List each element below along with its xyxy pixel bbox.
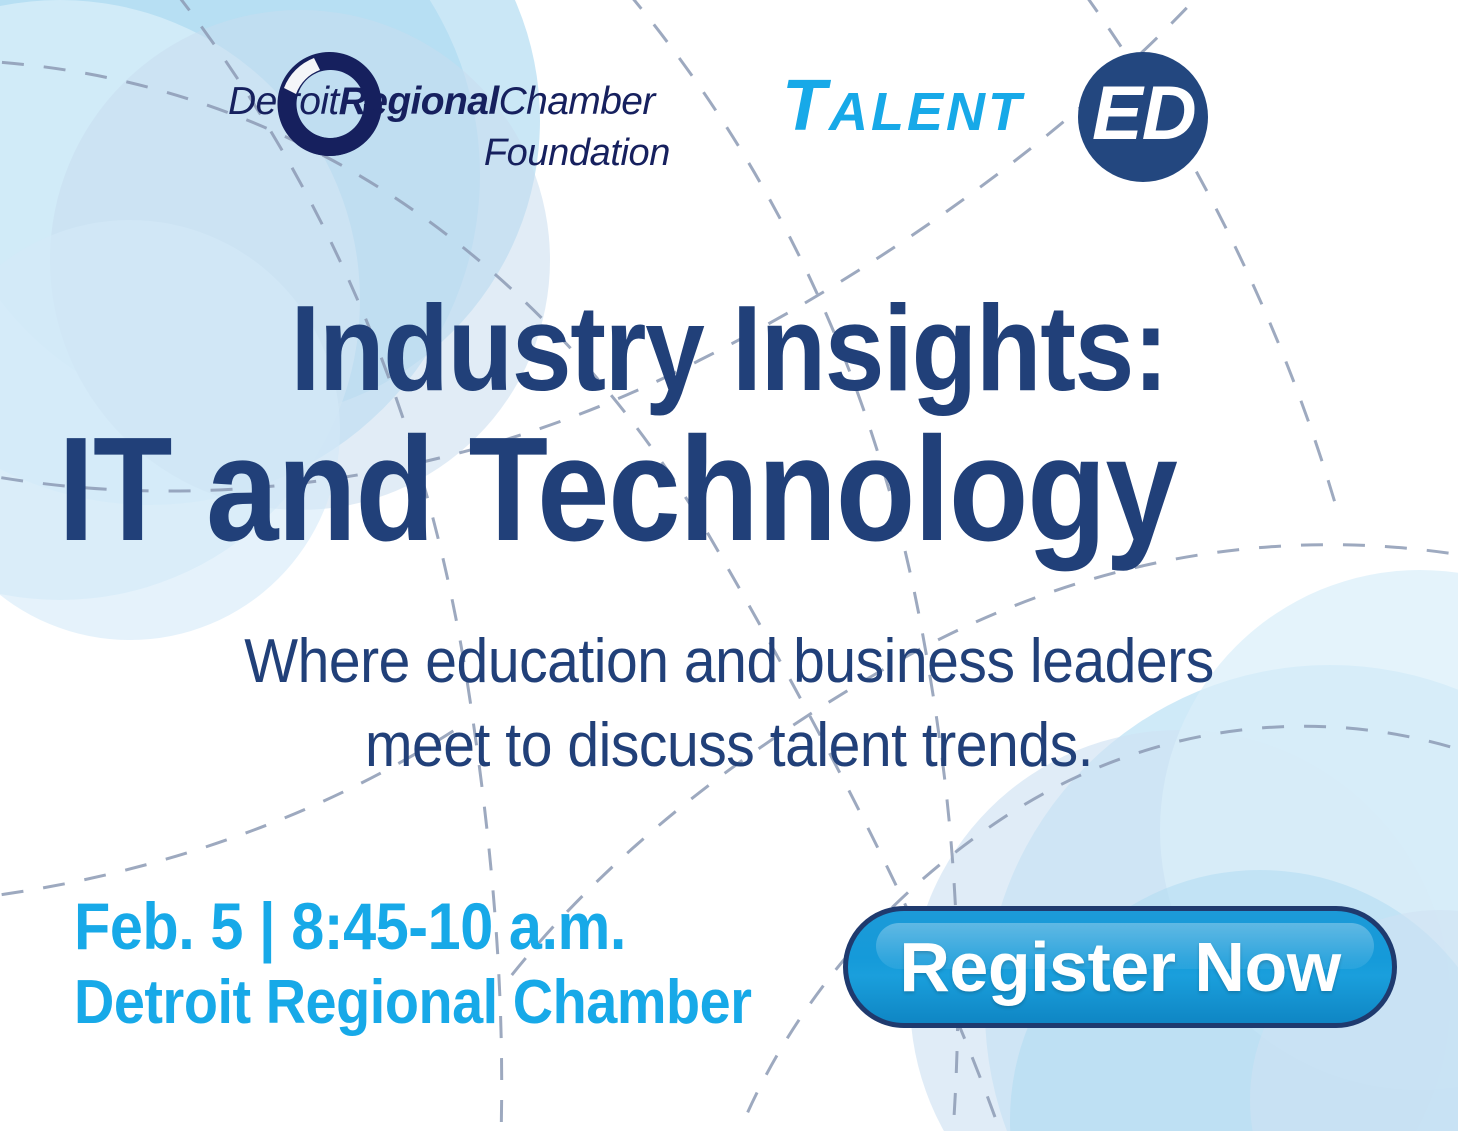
wordmark-foundation: Foundation: [228, 134, 688, 172]
chamber-wordmark: DetroitRegionalChamber: [228, 82, 688, 121]
talented-cap-t: T: [782, 66, 829, 146]
event-datetime: Feb. 5 | 8:45-10 a.m.: [74, 890, 758, 964]
subtitle-line-1: Where education and business leaders: [58, 620, 1399, 704]
talented-logo: TALENT ED: [782, 52, 1232, 182]
event-details: Feb. 5 | 8:45-10 a.m. Detroit Regional C…: [74, 890, 834, 1037]
promo-banner: DetroitRegionalChamber Foundation TALENT…: [0, 0, 1458, 1131]
subtitle: Where education and business leaders mee…: [0, 620, 1458, 787]
wordmark-detroit: Detroit: [228, 80, 339, 123]
page-title: Industry Insights: IT and Technology: [0, 288, 1458, 563]
headline-line-1: Industry Insights:: [87, 288, 1370, 409]
wordmark-regional: Regional: [339, 80, 499, 123]
register-now-button[interactable]: Register Now: [843, 906, 1397, 1028]
logo-row: DetroitRegionalChamber Foundation TALENT…: [0, 0, 1458, 200]
headline-line-2: IT and Technology: [0, 417, 1283, 564]
wordmark-chamber: Chamber: [499, 80, 655, 123]
talented-wordmark: TALENT: [782, 70, 1024, 142]
ed-badge-label: ED: [1092, 76, 1196, 152]
register-now-label: Register Now: [848, 911, 1392, 1023]
talented-rest: ALENT: [829, 82, 1024, 142]
detroit-regional-chamber-foundation-logo: DetroitRegionalChamber Foundation: [228, 46, 688, 176]
subtitle-line-2: meet to discuss talent trends.: [58, 704, 1399, 788]
event-venue: Detroit Regional Chamber: [74, 968, 758, 1037]
ed-badge: ED: [1078, 52, 1208, 182]
